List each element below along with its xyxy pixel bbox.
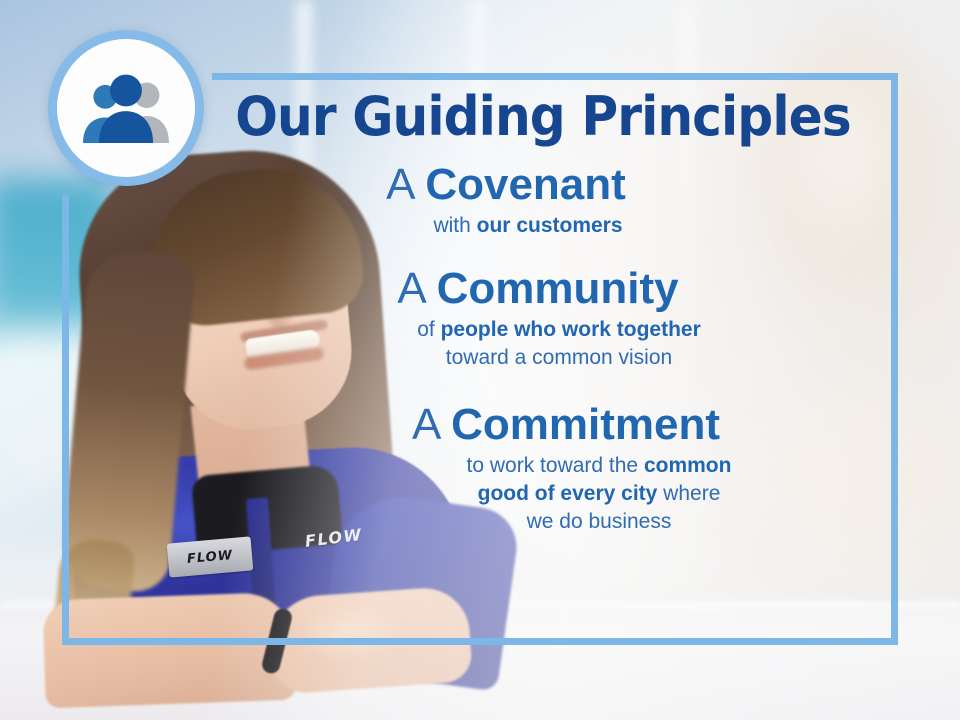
principle-noun: Community [437,264,679,313]
principle-community: A Community of people who work together … [212,262,874,372]
principle-sub-plain: of [417,318,440,341]
principle-subtext-line2: toward a common vision [212,344,874,372]
principle-commitment: A Commitment to work toward the common g… [212,398,874,536]
subject-clasped-hands [267,585,473,695]
page-title: Our Guiding Principles [235,86,851,148]
principle-covenant: A Covenant with our customers [212,158,874,240]
principle-heading: A Community [212,262,874,316]
poster-canvas: FLOW FLOW Our Gui [0,0,960,720]
subject-left-arm [42,592,296,709]
principle-subtext-line1: of people who work together [212,316,874,344]
principle-heading: A Covenant [212,158,874,212]
principle-article: A [412,400,451,449]
people-group-icon [78,73,174,143]
principle-sub-bold: our customers [477,214,623,237]
principle-sub-bold: common [644,454,732,477]
principle-heading: A Commitment [212,398,874,452]
principle-noun: Covenant [425,160,625,209]
principle-subtext-line3: we do business [212,508,874,536]
principle-subtext-line1: to work toward the common [212,452,874,480]
principle-subtext: with our customers [212,212,874,240]
principle-noun: Commitment [451,400,720,449]
principle-sub-plain: with [433,214,476,237]
principle-sub-bold: people who work together [441,318,701,341]
text-block: Our Guiding Principles A Covenant with o… [212,86,874,536]
principle-subtext-line2: good of every city where [212,480,874,508]
people-group-badge [48,30,204,186]
subject-name-badge: FLOW [167,536,254,577]
principle-sub-bold: good of every city [478,482,658,505]
principle-article: A [397,264,436,313]
principle-sub-plain: where [657,482,720,505]
principle-article: A [386,160,425,209]
principle-sub-plain: to work toward the [467,454,644,477]
